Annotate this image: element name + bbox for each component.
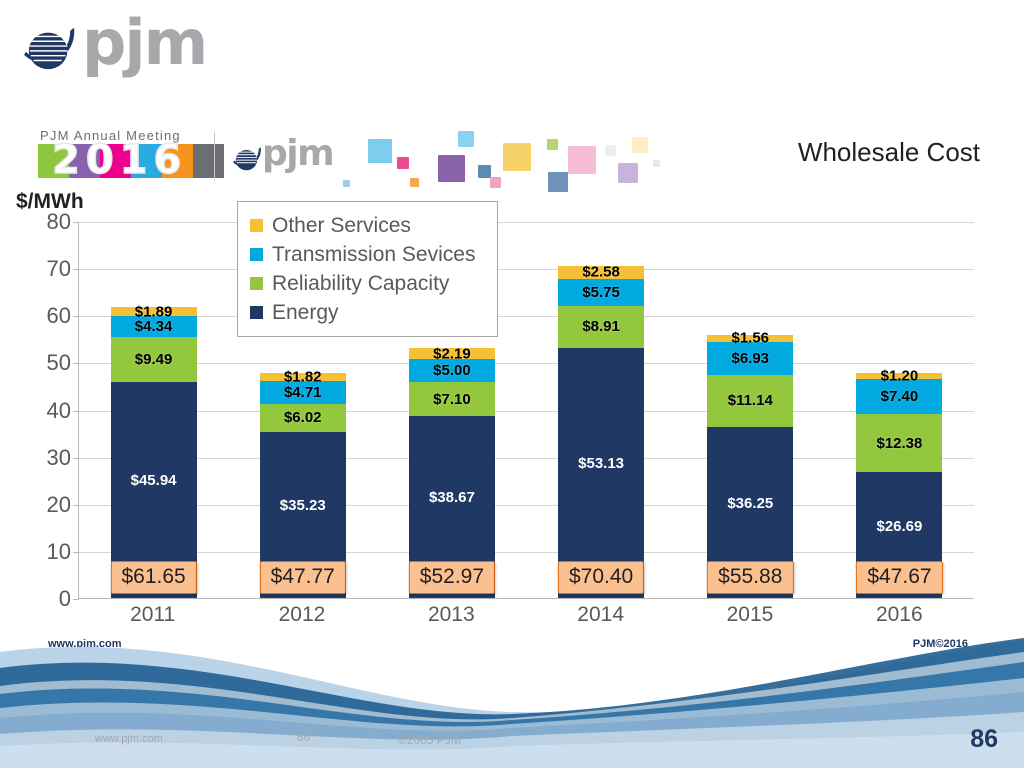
footer-copyright-small: ©2005 PJM [398, 733, 461, 747]
decorative-square [618, 163, 638, 183]
total-label-box: $61.65 [110, 561, 196, 594]
x-axis-tick: 2016 [825, 603, 974, 627]
bar-value-label: $53.13 [578, 455, 624, 472]
y-axis-tick: 50 [47, 350, 71, 376]
banner-pjm-logo: pjm [232, 140, 342, 180]
legend-label: Other Services [272, 214, 411, 238]
bar-value-label: $5.00 [433, 362, 471, 379]
legend-label: Transmission Sevices [272, 243, 475, 267]
x-axis-tick: 2013 [377, 603, 526, 627]
legend-item[interactable]: Other Services [250, 211, 475, 240]
y-axis-tick: 40 [47, 398, 71, 424]
bar-column[interactable]: $26.69$12.38$7.40$1.20$47.67 [825, 222, 974, 598]
bar-value-label: $7.40 [881, 388, 919, 405]
total-label-box: $70.40 [558, 561, 644, 594]
bar-segment[interactable]: $9.49 [111, 337, 197, 382]
bar-segment[interactable]: $1.56 [707, 335, 793, 342]
total-label-box: $55.88 [707, 561, 793, 594]
x-axis-tick: 2012 [227, 603, 376, 627]
total-label-box: $52.97 [409, 561, 495, 594]
legend-item[interactable]: Transmission Sevices [250, 240, 475, 269]
x-axis-tick: 2015 [675, 603, 824, 627]
legend-swatch [250, 306, 263, 319]
legend-swatch [250, 248, 263, 261]
bar-segment[interactable]: $1.82 [260, 373, 346, 382]
stacked-bar[interactable]: $36.25$11.14$6.93$1.56 [707, 335, 793, 598]
bar-column[interactable]: $45.94$9.49$4.34$1.89$61.65 [79, 222, 228, 598]
bar-value-label: $11.14 [728, 392, 773, 409]
decorative-square [547, 139, 558, 150]
legend-item[interactable]: Energy [250, 298, 475, 327]
wholesale-cost-chart: 80706050403020100 $45.94$9.49$4.34$1.89$… [0, 214, 1000, 614]
legend-swatch [250, 219, 263, 232]
pjm-swirl-icon [22, 22, 80, 74]
banner-divider [214, 132, 215, 180]
bar-value-label: $7.10 [433, 391, 471, 408]
bar-value-label: $2.58 [582, 264, 620, 281]
bar-value-label: $1.20 [881, 368, 919, 385]
banner-pjm-text: pjm [262, 136, 333, 172]
decorative-square [548, 172, 568, 192]
pjm-logo: pjm [22, 18, 192, 80]
bar-column[interactable]: $53.13$8.91$5.75$2.58$70.40 [527, 222, 676, 598]
bar-segment[interactable]: $11.14 [707, 375, 793, 427]
legend-label: Energy [272, 301, 339, 325]
x-axis-tick: 2014 [526, 603, 675, 627]
legend-item[interactable]: Reliability Capacity [250, 269, 475, 298]
bar-value-label: $4.71 [284, 384, 322, 401]
bar-value-label: $12.38 [876, 435, 922, 452]
bar-segment[interactable]: $1.89 [111, 307, 197, 316]
decorative-square [568, 146, 596, 174]
bar-series: $45.94$9.49$4.34$1.89$61.65$35.23$6.02$4… [79, 222, 974, 598]
decorative-square [397, 157, 409, 169]
bar-value-label: $36.25 [727, 495, 773, 512]
legend-label: Reliability Capacity [272, 272, 449, 296]
bar-segment[interactable]: $2.19 [409, 348, 495, 358]
bar-segment[interactable]: $2.58 [558, 266, 644, 278]
decorative-square [605, 145, 616, 156]
bar-segment[interactable]: $12.38 [856, 414, 942, 472]
footer-url-small: www.pjm.com [95, 733, 163, 745]
y-axis-tickmark [73, 599, 79, 600]
bar-segment[interactable]: $8.91 [558, 306, 644, 348]
bar-segment[interactable]: $5.75 [558, 279, 644, 306]
pjm-logo-text: pjm [82, 12, 206, 74]
decorative-square [653, 160, 660, 167]
bar-value-label: $5.75 [582, 284, 620, 301]
y-axis-tick: 20 [47, 492, 71, 518]
stacked-bar[interactable]: $45.94$9.49$4.34$1.89 [111, 307, 197, 598]
bar-value-label: $2.19 [433, 345, 471, 362]
plot-area: 80706050403020100 $45.94$9.49$4.34$1.89$… [78, 222, 974, 599]
decorative-square [438, 155, 465, 182]
bar-value-label: $6.93 [731, 350, 769, 367]
total-label-box: $47.77 [260, 561, 346, 594]
bar-value-label: $4.34 [135, 318, 173, 335]
decorative-square [632, 137, 648, 153]
bar-segment[interactable]: $6.93 [707, 342, 793, 375]
bar-segment[interactable]: $1.20 [856, 373, 942, 379]
bar-value-label: $35.23 [280, 497, 326, 514]
chart-title: Wholesale Cost [798, 137, 980, 168]
x-axis-tick: 2011 [78, 603, 227, 627]
bar-value-label: $26.69 [876, 518, 922, 535]
y-axis-tick: 70 [47, 256, 71, 282]
bar-value-label: $9.49 [135, 351, 173, 368]
bar-value-label: $1.89 [135, 303, 173, 320]
bar-value-label: $45.94 [131, 472, 177, 489]
decorative-square [410, 178, 419, 187]
decorative-square [368, 139, 392, 163]
pjm-swirl-icon-small [232, 144, 264, 173]
footer-slide-number-small: 86 [297, 730, 310, 744]
y-axis-tick: 10 [47, 539, 71, 565]
decorative-square [343, 180, 350, 187]
footer-wave-graphic [0, 638, 1024, 768]
gridline [79, 599, 974, 600]
bar-column[interactable]: $36.25$11.14$6.93$1.56$55.88 [676, 222, 825, 598]
bar-value-label: $8.91 [582, 318, 620, 335]
y-axis-tick: 80 [47, 209, 71, 235]
chart-legend[interactable]: Other ServicesTransmission SevicesReliab… [237, 201, 498, 337]
decorative-square [503, 143, 531, 171]
x-axis-labels: 201120122013201420152016 [78, 603, 974, 627]
stacked-bar[interactable]: $53.13$8.91$5.75$2.58 [558, 266, 644, 598]
decorative-square [458, 131, 474, 147]
y-axis-tick: 30 [47, 445, 71, 471]
slide: pjm PJM Annual Meeting 2016 pjm Wholesal… [0, 0, 1024, 768]
bar-segment[interactable]: $5.00 [409, 359, 495, 383]
decorative-square [478, 165, 491, 178]
bar-value-label: $38.67 [429, 489, 475, 506]
page-number: 86 [970, 725, 998, 754]
y-axis-tick: 0 [59, 586, 71, 612]
bar-segment[interactable]: $7.10 [409, 382, 495, 415]
total-label-box: $47.67 [856, 561, 942, 594]
banner-year: 2016 [52, 140, 187, 180]
y-axis-tick: 60 [47, 303, 71, 329]
bar-value-label: $6.02 [284, 409, 322, 426]
decorative-square [490, 177, 501, 188]
bar-value-label: $1.82 [284, 369, 322, 386]
legend-swatch [250, 277, 263, 290]
bar-value-label: $1.56 [731, 330, 769, 347]
bar-segment[interactable]: $6.02 [260, 404, 346, 432]
